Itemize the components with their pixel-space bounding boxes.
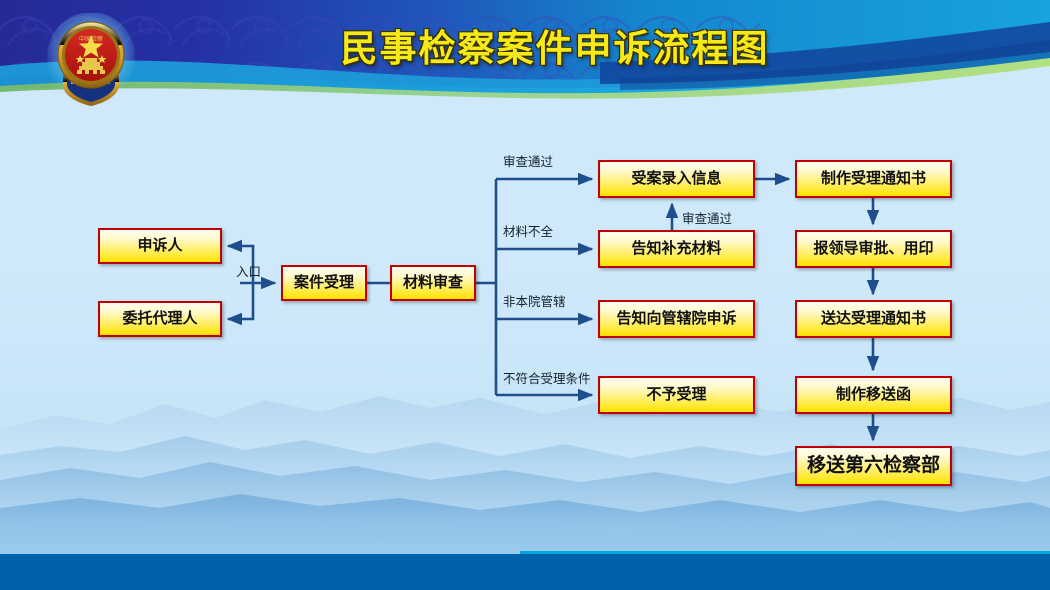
flow-node-label: 不予受理 [646, 387, 706, 404]
flow-node-transfer-dept[interactable]: 移送第六检察部 [795, 446, 952, 486]
flow-node-label: 移送第六检察部 [807, 456, 940, 477]
flow-node-material-review[interactable]: 材料审查 [390, 265, 476, 301]
flow-node-label: 制作移送函 [836, 387, 911, 404]
flow-node-label: 申诉人 [137, 238, 182, 255]
flow-node-label: 告知向管辖院申诉 [616, 311, 736, 328]
flow-node-label: 案件受理 [294, 275, 354, 292]
flow-node-leader-approval[interactable]: 报领导审批、用印 [795, 230, 952, 268]
flow-node-agent[interactable]: 委托代理人 [98, 301, 222, 337]
page-header: 中国检察 民事检察案件申诉流程图 [0, 0, 1050, 113]
footer-bar [0, 554, 1050, 590]
flow-node-label: 告知补充材料 [631, 241, 721, 258]
slide-canvas: 中国检察 民事检察案件申诉流程图 [0, 0, 1050, 590]
flow-node-make-notice[interactable]: 制作受理通知书 [795, 160, 952, 198]
flow-node-transfer-letter[interactable]: 制作移送函 [795, 376, 952, 414]
edge-label-not-jurisdiction: 非本院管辖 [503, 291, 566, 310]
flow-node-label: 材料审查 [403, 275, 463, 292]
edge-label-material-missing: 材料不全 [503, 221, 553, 240]
edge-label-review-passed-1: 审查通过 [503, 151, 553, 170]
flow-node-label: 报领导审批、用印 [813, 241, 933, 258]
edge-label-not-qualified: 不符合受理条件 [503, 368, 591, 387]
flow-node-appellant[interactable]: 申诉人 [98, 228, 222, 264]
edge-label-review-passed-2: 审查通过 [682, 208, 732, 227]
flow-node-label: 委托代理人 [122, 311, 197, 328]
flow-node-label: 受案录入信息 [631, 171, 721, 188]
flowchart: 申诉人 委托代理人 案件受理 材料审查 受案录入信息 告知补充材料 告知向管辖院… [0, 113, 1050, 554]
flow-node-notify-jurisdiction[interactable]: 告知向管辖院申诉 [598, 300, 755, 338]
page-title: 民事检察案件申诉流程图 [0, 18, 1050, 72]
flow-node-record-info[interactable]: 受案录入信息 [598, 160, 755, 198]
edge-label-entrance: 入口 [236, 261, 261, 280]
flow-node-serve-notice[interactable]: 送达受理通知书 [795, 300, 952, 338]
flow-node-label: 送达受理通知书 [821, 311, 926, 328]
flow-node-notify-supplement[interactable]: 告知补充材料 [598, 230, 755, 268]
flow-node-case-acceptance[interactable]: 案件受理 [281, 265, 367, 301]
flow-node-reject[interactable]: 不予受理 [598, 376, 755, 414]
flow-node-label: 制作受理通知书 [821, 171, 926, 188]
